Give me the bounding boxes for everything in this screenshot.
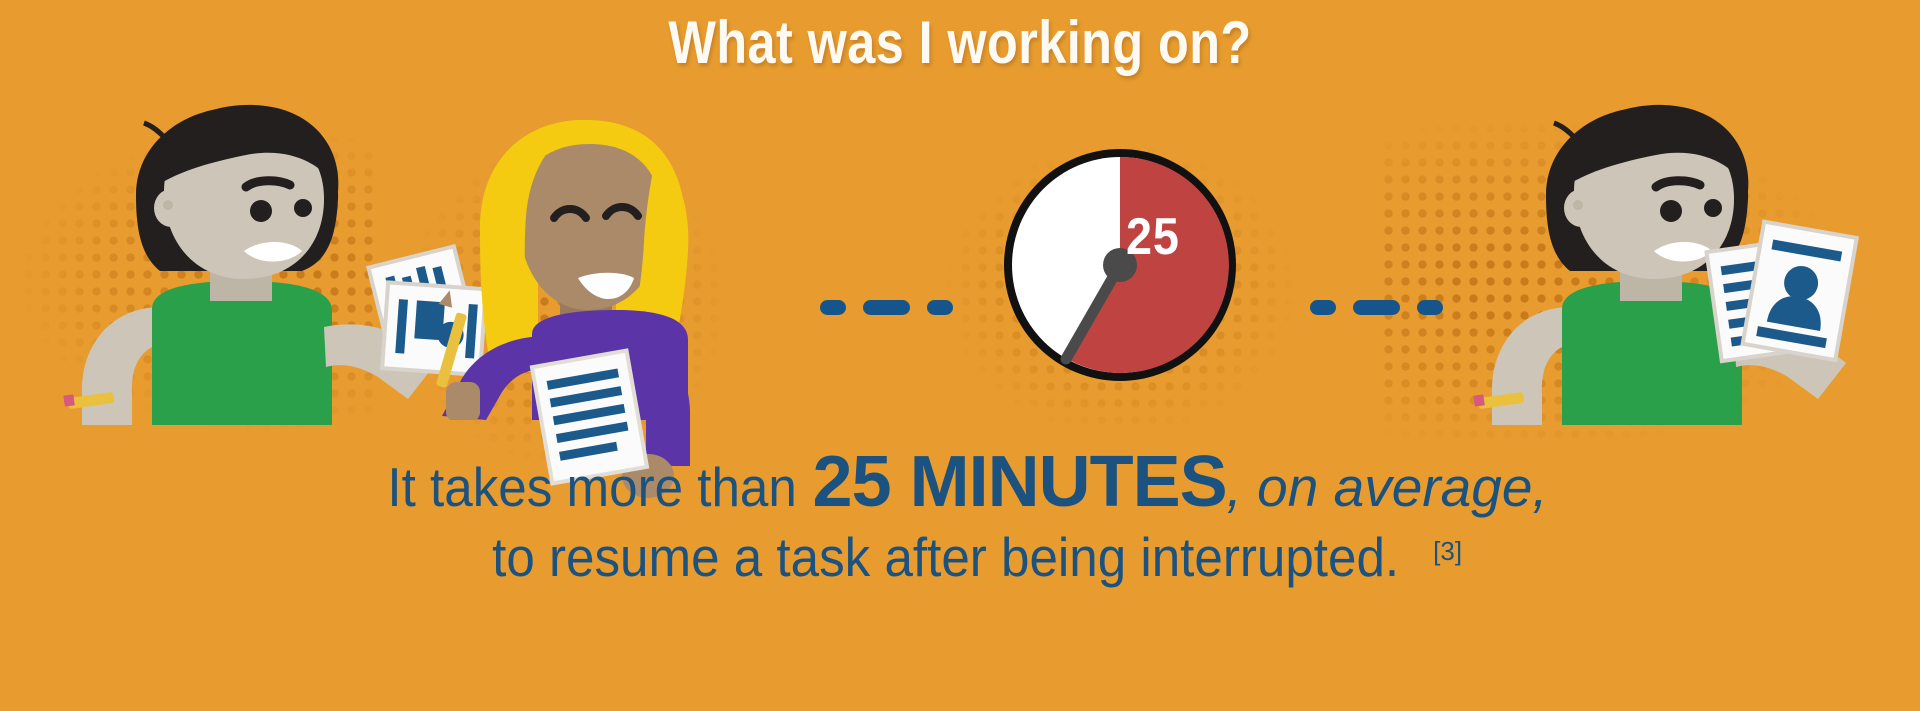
caption-second-line: to resume a task after being interrupted… xyxy=(492,525,1399,590)
caption-block: It takes more than 25 MINUTES, on averag… xyxy=(0,440,1920,590)
papers-profile-right xyxy=(1700,215,1880,385)
pencil-icon xyxy=(436,288,468,388)
hair-tuft xyxy=(1554,123,1574,137)
page-title: What was I working on? xyxy=(154,8,1767,77)
torso-shirt xyxy=(152,281,332,425)
caption-italic: , on average, xyxy=(1227,456,1548,518)
dash-segment xyxy=(1353,300,1400,315)
eye-left xyxy=(1660,200,1682,222)
hand-left xyxy=(446,382,480,420)
dashes-left xyxy=(820,300,953,315)
caption-prefix: It takes more than xyxy=(388,455,797,520)
dash-segment xyxy=(863,300,910,315)
timer-clock xyxy=(1000,145,1240,385)
hair-tuft xyxy=(144,123,164,137)
timer-value-label: 25 xyxy=(1126,207,1180,267)
caption-line-2: to resume a task after being interrupted… xyxy=(0,525,1920,590)
infographic-panel: What was I working on? xyxy=(0,0,1920,711)
caption-line-1: It takes more than 25 MINUTES, on averag… xyxy=(0,440,1920,525)
caption-emphasis: 25 MINUTES xyxy=(813,442,1227,522)
eye-left xyxy=(250,200,272,222)
citation-marker: [3] xyxy=(1433,536,1462,566)
dashes-right xyxy=(1310,300,1443,315)
dash-segment xyxy=(1310,300,1336,315)
eye-right xyxy=(294,199,312,217)
dash-segment xyxy=(1417,300,1443,315)
dash-segment xyxy=(820,300,846,315)
dash-segment xyxy=(927,300,953,315)
